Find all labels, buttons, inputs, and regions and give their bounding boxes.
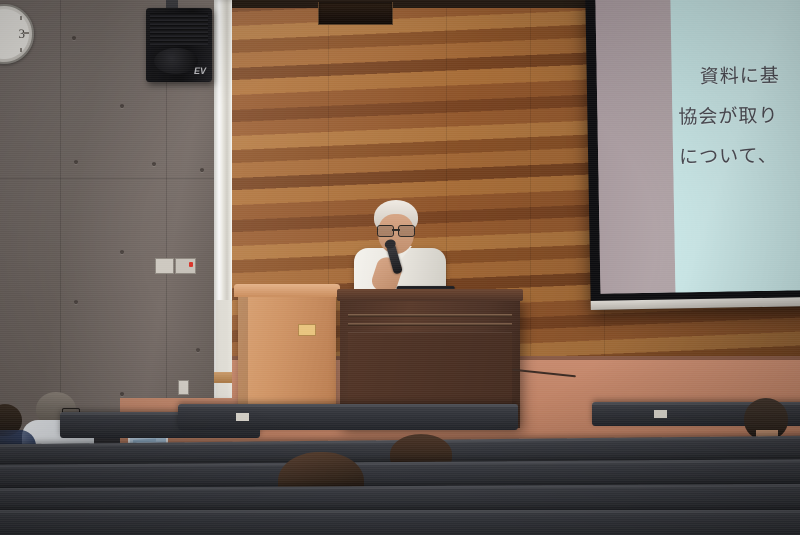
clock-number: 3 xyxy=(19,26,26,42)
speaker-grille xyxy=(150,13,208,45)
speaker-woofer xyxy=(154,48,198,74)
indicator-light xyxy=(189,262,193,267)
slide-line-2: 協会が取り xyxy=(678,96,800,138)
slide-line-3: について、 xyxy=(679,136,800,178)
projection-screen-surface: 資料に基 協会が取り について、 xyxy=(595,0,800,294)
secondary-podium xyxy=(238,292,336,420)
screen-unlit-margin xyxy=(595,0,675,294)
speaker-brand-logo: EV xyxy=(194,66,206,76)
projected-slide: 資料に基 協会が取り について、 xyxy=(670,0,800,292)
slide-line-1: 資料に基 xyxy=(677,56,800,98)
pa-speaker-box: EV xyxy=(146,8,212,82)
presenter xyxy=(352,200,448,300)
wall-switch-panel[interactable] xyxy=(175,258,196,274)
lecture-hall-photo: 3 EV 資料に基 協会が取り xyxy=(0,0,800,535)
eyeglasses-icon xyxy=(377,225,415,235)
seat-row-frontmost xyxy=(0,510,800,535)
projection-screen: 資料に基 協会が取り について、 xyxy=(585,0,800,310)
wall-outlet[interactable] xyxy=(178,380,189,395)
seat-row-upper-right xyxy=(178,404,518,430)
seat-number-plate xyxy=(236,413,249,421)
wall-control-panel[interactable] xyxy=(155,258,174,274)
slide-text-block: 資料に基 協会が取り について、 xyxy=(677,56,800,178)
seat-number-plate xyxy=(654,410,667,418)
ceiling-vent-grille xyxy=(318,2,393,25)
